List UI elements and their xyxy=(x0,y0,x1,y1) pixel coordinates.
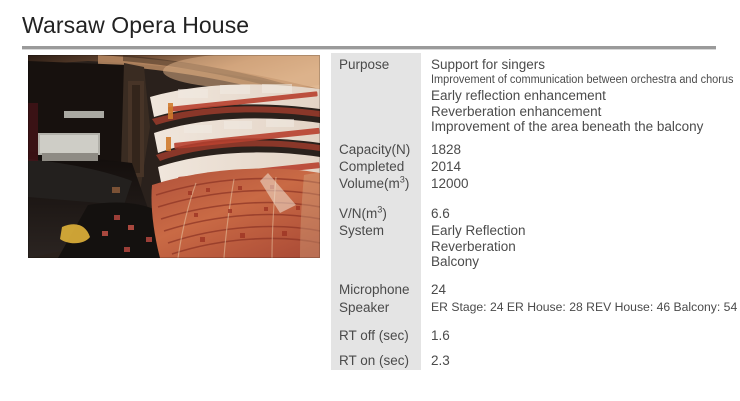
row-label-microphone: Microphone xyxy=(339,282,421,297)
row-label-system: System xyxy=(339,223,421,238)
system-line-2: Reverberation xyxy=(431,239,526,255)
volume-label-base: Volume(m xyxy=(339,176,400,191)
purpose-line-5: Improvement of the area beneath the balc… xyxy=(431,119,740,135)
row-value-completed: 2014 xyxy=(431,159,461,174)
vn-label-base: V/N(m xyxy=(339,206,377,221)
auditorium-photo xyxy=(28,55,320,258)
row-value-capacity: 1828 xyxy=(431,142,461,157)
system-line-3: Balcony xyxy=(431,254,526,270)
slide-root: Warsaw Opera House xyxy=(0,0,740,401)
row-value-vn: 6.6 xyxy=(431,206,450,221)
row-value-purpose: Support for singers Improvement of commu… xyxy=(431,57,740,135)
auditorium-photo-art xyxy=(28,55,320,258)
row-value-rt-on: 2.3 xyxy=(431,353,450,368)
specification-table: Purpose Support for singers Improvement … xyxy=(331,53,716,370)
row-value-volume: 12000 xyxy=(431,176,469,191)
volume-label-tail: ) xyxy=(405,176,410,191)
purpose-line-4: Reverberation enhancement xyxy=(431,104,740,120)
system-line-1: Early Reflection xyxy=(431,223,526,239)
row-label-rt-off: RT off (sec) xyxy=(339,328,421,343)
row-label-completed: Completed xyxy=(339,159,421,174)
purpose-line-1: Support for singers xyxy=(431,57,740,73)
row-label-purpose: Purpose xyxy=(339,57,421,72)
purpose-line-2: Improvement of communication between orc… xyxy=(431,73,733,89)
row-value-speaker: ER Stage: 24 ER House: 28 REV House: 46 … xyxy=(431,300,737,314)
vn-label-tail: ) xyxy=(382,206,387,221)
title-divider xyxy=(22,46,716,50)
row-label-volume: Volume(m3) xyxy=(339,176,421,191)
row-label-vn: V/N(m3) xyxy=(339,206,421,221)
row-value-rt-off: 1.6 xyxy=(431,328,450,343)
row-label-speaker: Speaker xyxy=(339,300,421,315)
row-value-microphone: 24 xyxy=(431,282,446,297)
purpose-line-3: Early reflection enhancement xyxy=(431,88,740,104)
row-value-system: Early Reflection Reverberation Balcony xyxy=(431,223,526,270)
page-title: Warsaw Opera House xyxy=(22,12,249,39)
row-label-capacity: Capacity(N) xyxy=(339,142,421,157)
row-label-rt-on: RT on (sec) xyxy=(339,353,421,368)
